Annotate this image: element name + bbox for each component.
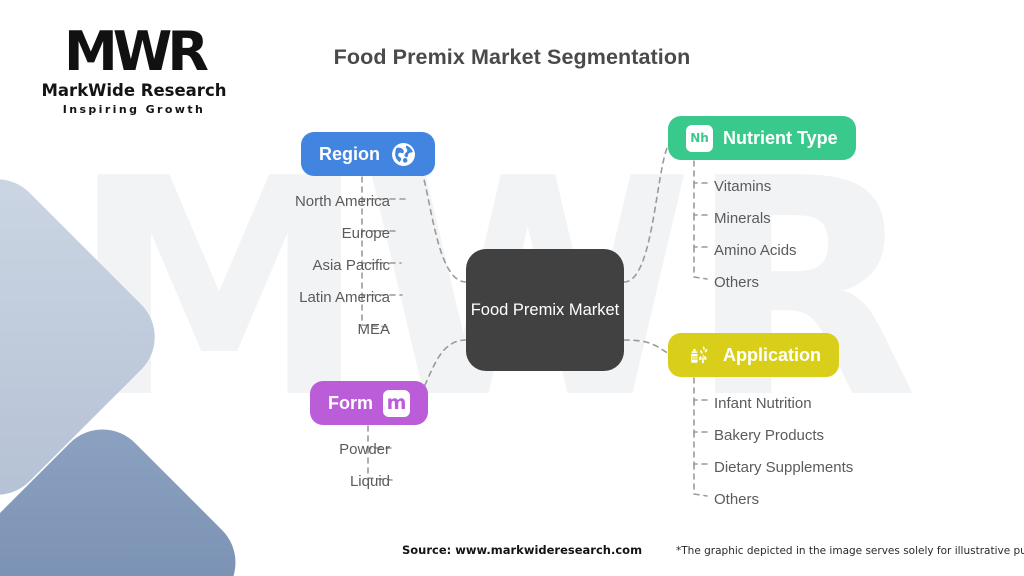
list-item[interactable]: Infant Nutrition [714,387,974,419]
wire-nutrient-leaf-0 [694,161,708,183]
list-item[interactable]: Powder [220,433,390,465]
branch-label-application: Application [723,345,821,366]
wire-center-nutrient [624,140,672,282]
m-square-icon: m [383,390,410,417]
branch-pill-application[interactable]: Application [668,333,839,377]
brand-logo: MWR MarkWide Research Inspiring Growth [34,24,234,116]
nutrition-label-icon-letter: Nh [690,132,709,144]
branch-label-region: Region [319,144,380,165]
wire-application-leaf-3 [694,464,707,496]
wire-nutrient-leaf-3 [694,247,707,279]
infographic-canvas: MWR MWR MarkWide Research Inspiring Grow… [0,0,1024,576]
list-item[interactable]: Others [714,483,974,515]
list-item[interactable]: Bakery Products [714,419,974,451]
list-item[interactable]: MEA [210,313,390,345]
branch-items-nutrient: Vitamins Minerals Amino Acids Others [714,170,954,298]
decor-square-dark [0,410,255,576]
m-square-icon-letter: m [387,394,407,413]
branch-items-form: Powder Liquid [220,433,390,497]
wire-nutrient-leaf-2 [694,215,708,247]
branch-label-form: Form [328,393,373,414]
source-label: Source: www.markwideresearch.com [402,543,642,557]
branch-pill-nutrient[interactable]: Nh Nutrient Type [668,116,856,160]
wire-center-application [624,340,672,355]
page-title: Food Premix Market Segmentation [0,45,1024,70]
list-item[interactable]: North America [210,185,390,217]
branch-items-application: Infant Nutrition Bakery Products Dietary… [714,387,974,515]
nutrition-label-icon: Nh [686,125,713,152]
wire-application-leaf-0 [694,378,708,400]
list-item[interactable]: Others [714,266,954,298]
wire-nutrient-leaf-1 [694,183,708,215]
decor-square-light [0,160,174,514]
branch-label-nutrient: Nutrient Type [723,128,838,149]
center-node[interactable]: Food Premix Market [466,249,624,371]
wire-application-leaf-2 [694,432,708,464]
list-item[interactable]: Vitamins [714,170,954,202]
branch-pill-region[interactable]: Region [301,132,435,176]
wheat-jar-icon [686,342,713,369]
logo-company-name: MarkWide Research [34,81,234,100]
disclaimer-note: *The graphic depicted in the image serve… [676,545,1024,557]
wire-application-leaf-1 [694,400,708,432]
list-item[interactable]: Amino Acids [714,234,954,266]
list-item[interactable]: Europe [210,217,390,249]
list-item[interactable]: Dietary Supplements [714,451,974,483]
branch-pill-form[interactable]: Form m [310,381,428,425]
list-item[interactable]: Minerals [714,202,954,234]
branch-items-region: North America Europe Asia Pacific Latin … [210,185,390,345]
globe-icon [390,141,417,168]
list-item[interactable]: Latin America [210,281,390,313]
list-item[interactable]: Liquid [220,465,390,497]
logo-tagline: Inspiring Growth [34,103,234,116]
center-node-label: Food Premix Market [471,299,620,321]
list-item[interactable]: Asia Pacific [210,249,390,281]
